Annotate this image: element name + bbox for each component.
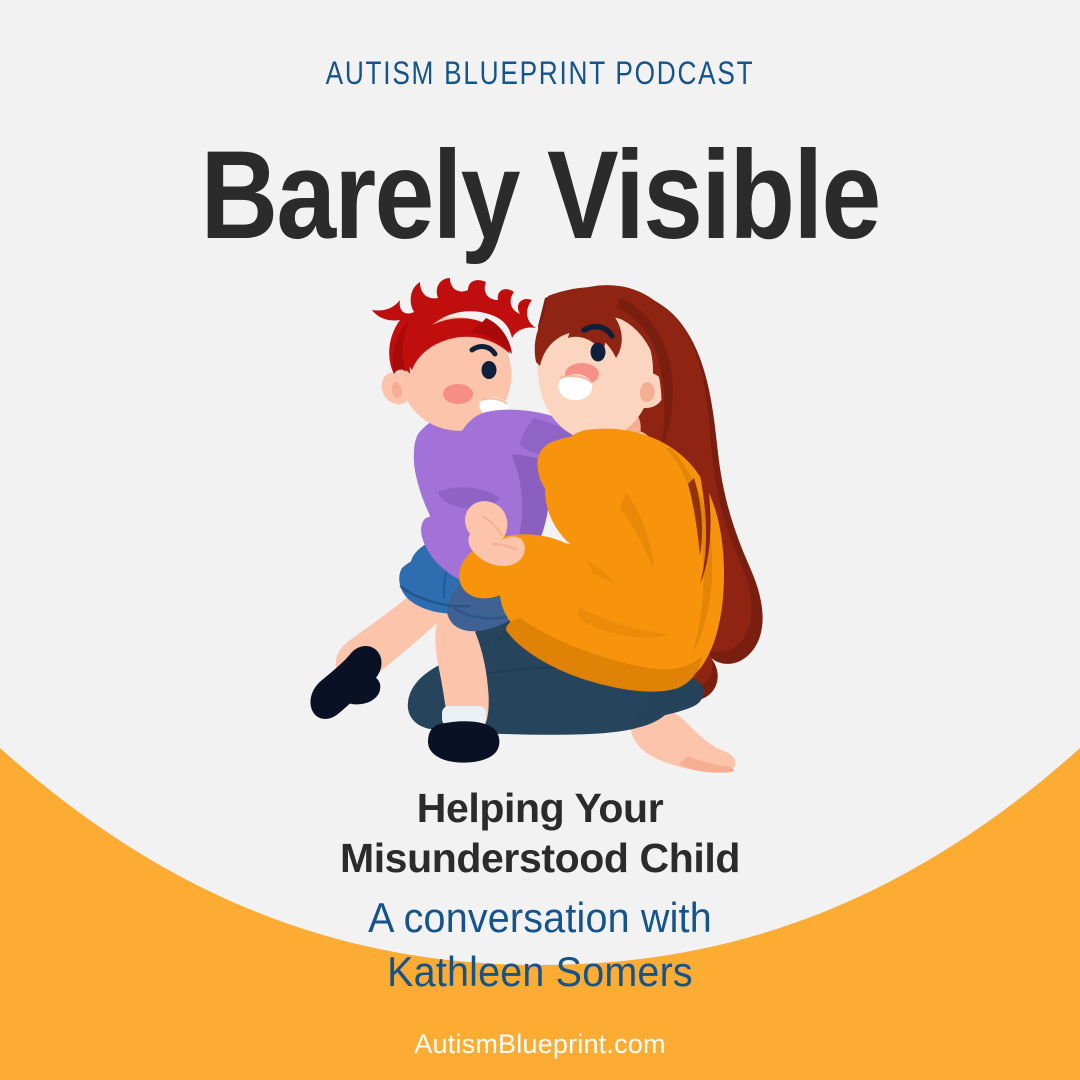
guest-credit-line-2: Kathleen Somers — [32, 945, 1047, 999]
guest-credit-line-1: A conversation with — [32, 891, 1047, 945]
boy-head — [372, 278, 536, 431]
website-footer: AutismBlueprint.com — [0, 1029, 1080, 1060]
boy-cheek-blush — [443, 384, 473, 404]
guest-credit: A conversation with Kathleen Somers — [32, 891, 1047, 999]
episode-title: Helping Your Misunderstood Child — [0, 783, 1080, 883]
podcast-name-eyebrow: AUTISM BLUEPRINT PODCAST — [97, 55, 983, 92]
podcast-cover-art: AUTISM BLUEPRINT PODCAST Barely Visible … — [0, 0, 1080, 1080]
episode-title-line-2: Misunderstood Child — [0, 833, 1080, 883]
mother-eye — [591, 343, 606, 362]
page-title: Barely Visible — [76, 132, 1005, 260]
episode-title-line-1: Helping Your — [0, 783, 1080, 833]
boy-eye — [482, 361, 497, 379]
mother-and-child-illustration — [290, 278, 790, 778]
